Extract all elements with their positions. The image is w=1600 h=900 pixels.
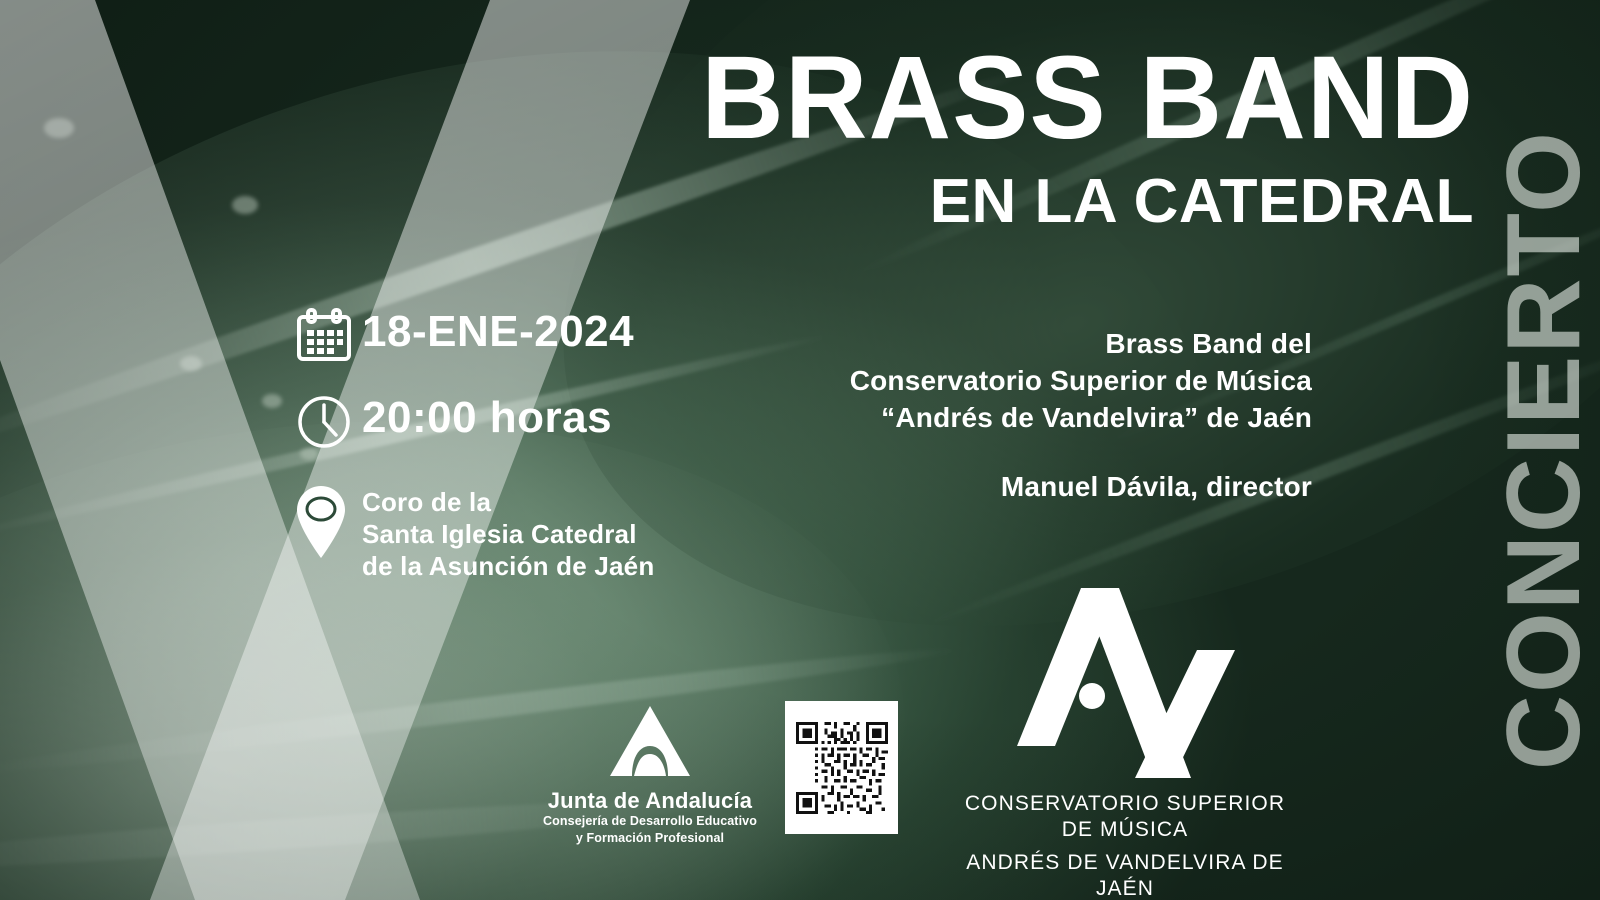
junta-name: Junta de Andalucía	[540, 789, 760, 812]
junta-dept-line-2: y Formación Profesional	[540, 831, 760, 846]
junta-dept-line-1: Consejería de Desarrollo Educativo	[540, 814, 760, 829]
credit-line-3: “Andrés de Vandelvira” de Jaén	[850, 400, 1312, 437]
time-text-wrap: 20:00 horas	[362, 394, 612, 440]
conservatory-caption-line-1: CONSERVATORIO SUPERIOR DE MÚSICA	[955, 791, 1295, 842]
headline-block: BRASS BAND EN LA CATEDRAL	[0, 42, 1492, 233]
detail-row-date: 18-ENE-2024	[296, 308, 766, 362]
credit-line-2: Conservatorio Superior de Música	[850, 363, 1312, 400]
clock-icon	[296, 394, 362, 450]
conservatory-logo: CONSERVATORIO SUPERIOR DE MÚSICA ANDRÉS …	[955, 588, 1295, 900]
vertical-concierto-text: CONCIERTO	[1492, 130, 1596, 770]
venue-text-wrap: Coro de la Santa Iglesia Catedral de la …	[362, 484, 654, 583]
qr-code-icon[interactable]	[785, 701, 898, 834]
junta-andalucia-logo: Junta de Andalucía Consejería de Desarro…	[540, 704, 760, 846]
ensemble-credits: Brass Band del Conservatorio Superior de…	[850, 326, 1312, 503]
junta-andalucia-arch-icon	[594, 704, 706, 778]
av-monogram-icon	[1015, 588, 1235, 778]
credit-line-1: Brass Band del	[850, 326, 1312, 363]
date-text-wrap: 18-ENE-2024	[362, 308, 634, 354]
event-time: 20:00 horas	[362, 396, 612, 440]
conservatory-caption-line-2: ANDRÉS DE VANDELVIRA DE JAÉN	[955, 850, 1295, 900]
venue-line-3: de la Asunción de Jaén	[362, 550, 654, 582]
calendar-icon	[296, 308, 362, 362]
venue-line-2: Santa Iglesia Catedral	[362, 518, 654, 550]
location-pin-icon	[296, 484, 362, 560]
detail-row-venue: Coro de la Santa Iglesia Catedral de la …	[296, 484, 766, 583]
detail-row-time: 20:00 horas	[296, 394, 766, 450]
vertical-concierto-label: CONCIERTO	[1484, 0, 1600, 900]
venue-line-1: Coro de la	[362, 486, 654, 518]
event-date: 18-ENE-2024	[362, 310, 634, 354]
page-subtitle: EN LA CATEDRAL	[0, 171, 1474, 233]
page-title: BRASS BAND	[44, 42, 1474, 155]
director-credit: Manuel Dávila, director	[850, 471, 1312, 503]
concert-poster: CONCIERTO BRASS BAND EN LA CATEDRAL	[0, 0, 1600, 900]
event-details: 18-ENE-2024 20:00 horas	[296, 308, 766, 607]
